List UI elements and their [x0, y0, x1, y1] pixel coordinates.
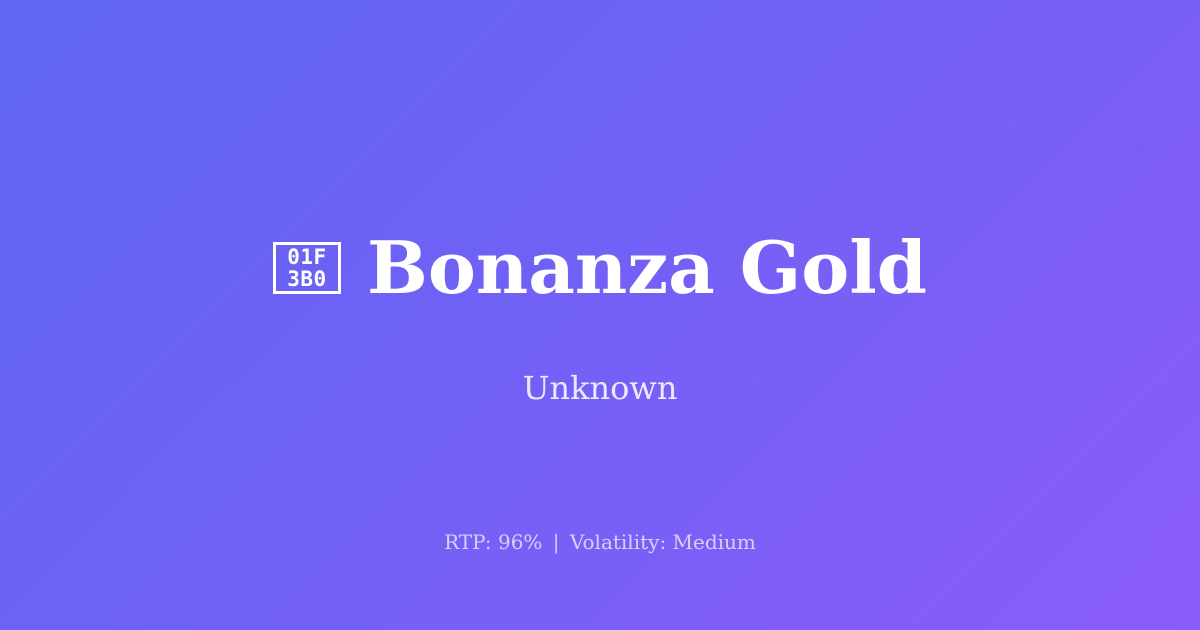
tofu-hex-top: 01F — [287, 246, 326, 268]
game-og-card: 01F 3B0 Bonanza Gold Unknown RTP: 96% | … — [0, 0, 1200, 630]
game-provider-subtitle: Unknown — [0, 368, 1200, 408]
slot-machine-emoji-tofu-icon: 01F 3B0 — [273, 242, 341, 294]
page-title: Bonanza Gold — [367, 232, 927, 304]
tofu-hex-bottom: 3B0 — [287, 268, 326, 290]
meta-separator: | — [549, 530, 564, 554]
rtp-value: RTP: 96% — [444, 530, 542, 554]
volatility-value: Volatility: Medium — [570, 530, 756, 554]
title-row: 01F 3B0 Bonanza Gold — [0, 232, 1200, 304]
game-meta-line: RTP: 96% | Volatility: Medium — [0, 528, 1200, 556]
